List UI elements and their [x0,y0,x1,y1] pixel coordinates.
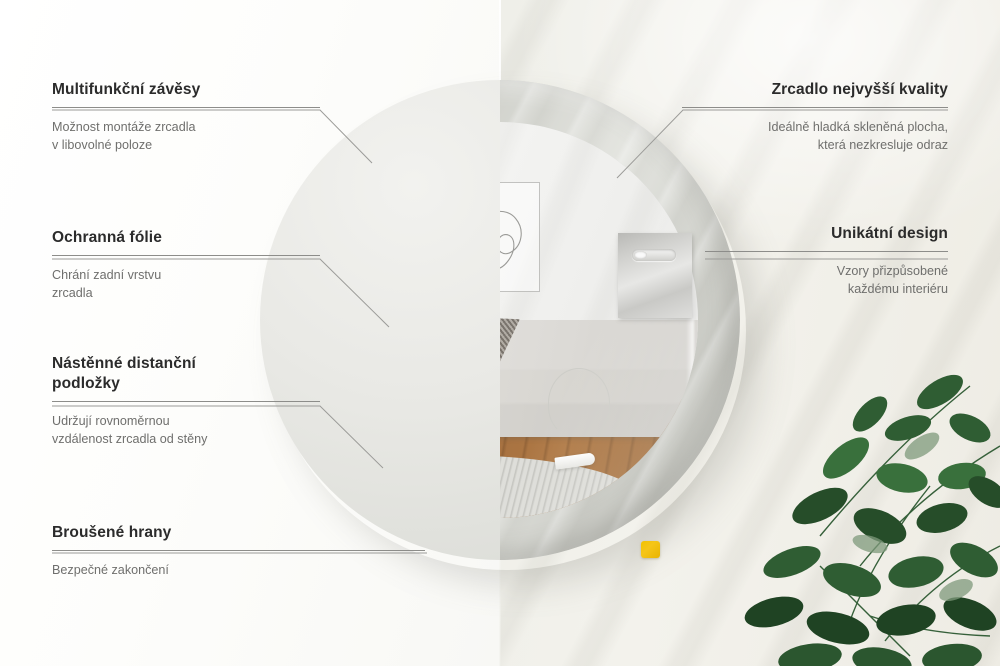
callout-description: Bezpečné zakončení [52,561,425,580]
callout-rule [52,401,320,402]
callout-description: Vzory přizpůsobené každému interiéru [705,262,948,299]
callout-rule [52,550,425,551]
callout-title: Multifunkční závěsy [52,80,320,100]
callout-title: Ochranná fólie [52,228,320,248]
callout-rule [52,255,320,256]
callout-title: Unikátní design [705,224,948,244]
infographic-canvas: Multifunkční závěsy Možnost montáže zrca… [0,0,1000,666]
callout-multifunctional-hangers: Multifunkční závěsy Možnost montáže zrca… [52,80,320,155]
callout-ground-edges: Broušené hrany Bezpečné zakončení [52,523,425,579]
callout-protective-foil: Ochranná fólie Chrání zadní vrstvu zrcad… [52,228,320,303]
plant-foliage-decoration [670,366,1000,666]
callout-description: Chrání zadní vrstvu zrcadla [52,266,320,303]
callout-description: Ideálně hladká skleněná plocha, která ne… [682,118,948,155]
callout-title: Nástěnné distanční podložky [52,354,320,394]
callout-rule [52,107,320,108]
callout-highest-quality-mirror: Zrcadlo nejvyšší kvality Ideálně hladká … [682,80,948,155]
callout-title: Broušené hrany [52,523,425,543]
callout-rule [705,251,948,252]
callout-rule [682,107,948,108]
callout-wall-spacers: Nástěnné distanční podložky Udržují rovn… [52,354,320,449]
callout-description: Udržují rovnoměrnou vzdálenost zrcadla o… [52,412,320,449]
callout-description: Možnost montáže zrcadla v libovolné polo… [52,118,320,155]
callout-unique-design: Unikátní design Vzory přizpůsobené každé… [705,224,948,299]
leaves-icon [670,366,1000,666]
callout-title: Zrcadlo nejvyšší kvality [682,80,948,100]
